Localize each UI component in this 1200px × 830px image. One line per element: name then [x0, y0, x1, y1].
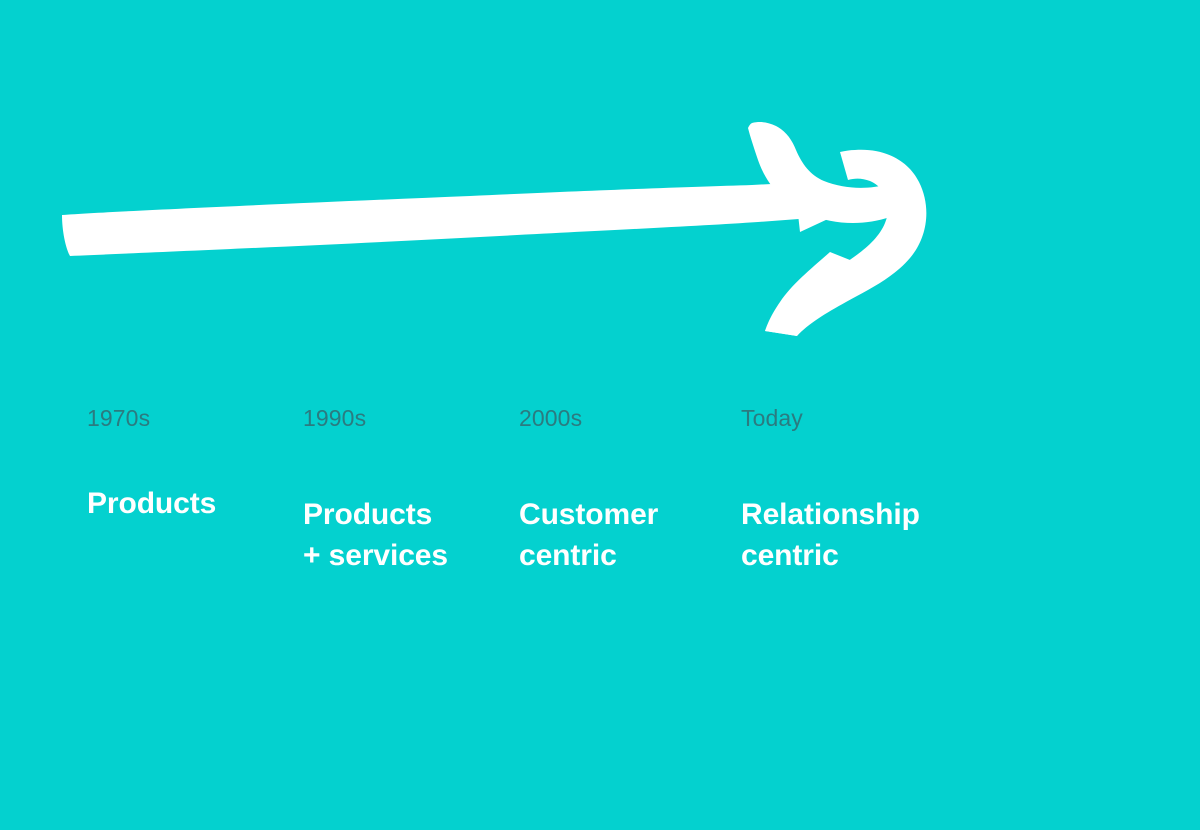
timeline-column-2000s: 2000s Customer centric	[519, 396, 658, 576]
timeline-column-1990s: 1990s Products + services	[303, 396, 448, 576]
era-label: 2000s	[519, 396, 658, 430]
curved-right-arrow-icon	[62, 122, 926, 336]
era-label: Today	[741, 396, 920, 430]
timeline-column-today: Today Relationship centric	[741, 396, 920, 576]
stage-title: Customer centric	[519, 494, 658, 576]
stage-title: Relationship centric	[741, 494, 920, 576]
slide-canvas: 1970s Products 1990s Products + services…	[0, 0, 1200, 830]
stage-title: Products + services	[303, 494, 448, 576]
timeline-column-1970s: 1970s Products	[87, 396, 216, 524]
era-label: 1990s	[303, 396, 448, 430]
timeline-row: 1970s Products 1990s Products + services…	[0, 396, 1200, 616]
stage-title: Products	[87, 483, 216, 524]
era-label: 1970s	[87, 396, 216, 430]
